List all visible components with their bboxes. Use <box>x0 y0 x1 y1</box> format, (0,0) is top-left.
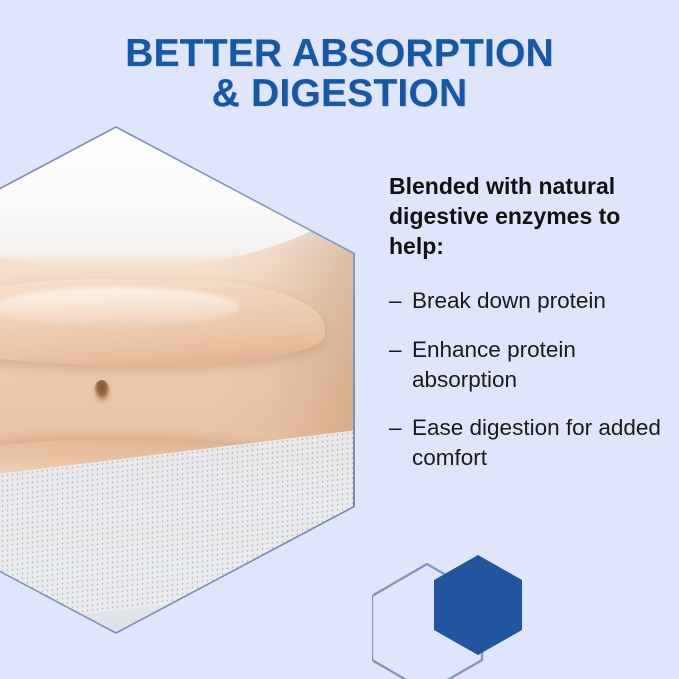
dash-marker: – <box>389 335 402 365</box>
hexagon-filled-icon <box>434 555 522 655</box>
list-item-label: Break down protein <box>412 288 606 313</box>
title-line-1: BETTER ABSORPTION <box>0 34 679 74</box>
hexagon-photo-clip <box>0 128 353 632</box>
list-item: –Ease digestion for added comfort <box>389 413 661 473</box>
promo-banner: BETTER ABSORPTION & DIGESTION Blended wi… <box>0 0 679 679</box>
hexagon-photo-frame <box>0 126 355 634</box>
benefit-list: –Break down protein –Enhance protein abs… <box>389 286 661 474</box>
upper-hand-highlight <box>0 287 239 327</box>
copy-column: Blended with natural digestive enzymes t… <box>389 172 661 492</box>
body-photo <box>0 128 353 632</box>
list-item: –Break down protein <box>389 286 661 316</box>
dash-marker: – <box>389 286 402 316</box>
navel <box>94 380 110 401</box>
title-line-2: & DIGESTION <box>0 74 679 114</box>
dash-marker: – <box>389 413 402 443</box>
page-title: BETTER ABSORPTION & DIGESTION <box>0 34 679 114</box>
list-item-label: Enhance protein absorption <box>412 337 576 392</box>
subheading: Blended with natural digestive enzymes t… <box>389 172 661 262</box>
hexagon-logo-mark <box>372 548 588 679</box>
list-item-label: Ease digestion for added comfort <box>412 415 661 470</box>
list-item: –Enhance protein absorption <box>389 335 661 395</box>
